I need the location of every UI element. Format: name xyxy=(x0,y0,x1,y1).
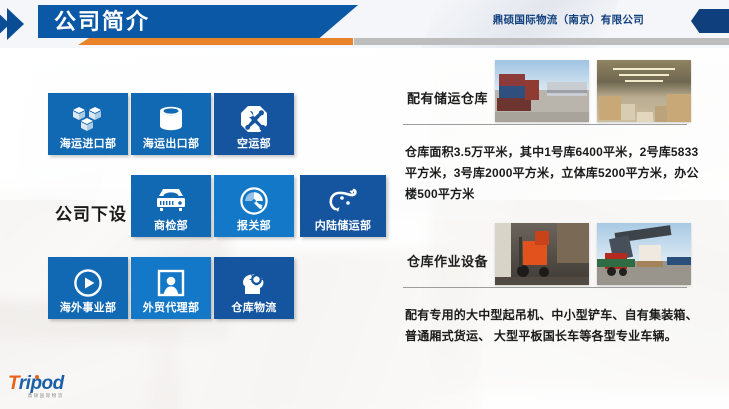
section-body: 配有专用的大中型起吊机、中小型铲车、自有集装箱、 普通厢式货运、 大型平板国长车… xyxy=(395,295,715,347)
department-grid: 公司下设 海运进口部 海运出口部 xyxy=(0,0,360,409)
dept-tile-label: 海外事业部 xyxy=(60,302,117,314)
tripod-logo: Tripod 鼎硕国际物流 xyxy=(8,374,64,399)
dept-tile-haiyun-chukou[interactable]: 海运出口部 xyxy=(131,93,211,155)
section-body: 仓库面积3.5万平米，其中1号库6400平米，2号库5833平方米，3号库200… xyxy=(395,132,715,205)
dept-tile-neilu-chuyun[interactable]: 内陆储运部 xyxy=(300,175,386,237)
dept-tile-label: 外贸代理部 xyxy=(143,302,200,314)
dept-tile-label: 仓库物流 xyxy=(231,302,276,314)
route-loop-icon xyxy=(300,175,386,220)
dept-tile-haiwai-shiye[interactable]: 海外事业部 xyxy=(48,257,128,319)
section-photos xyxy=(495,223,691,285)
logo-dot-icon xyxy=(35,375,39,379)
dept-tile-shangjian[interactable]: 商检部 xyxy=(131,175,211,237)
section-divider xyxy=(403,287,687,288)
section-photos xyxy=(495,60,691,122)
section-equipment: 仓库作业设备 xyxy=(395,223,715,347)
company-name: 鼎硕国际物流（南京）有限公司 xyxy=(493,12,644,27)
container-yard-photo xyxy=(495,60,589,122)
dept-tile-waimao-daili[interactable]: 外贸代理部 xyxy=(131,257,211,319)
person-frame-icon xyxy=(131,257,211,302)
head-idea-icon xyxy=(214,257,294,302)
cylinder-drum-icon xyxy=(131,93,211,138)
gauge-circle-icon xyxy=(214,175,294,220)
dept-tile-label: 空运部 xyxy=(237,138,271,150)
boxes-icon xyxy=(48,93,128,138)
section-warehouse: 配有储运仓库 xyxy=(395,60,715,205)
logo-first-letter: T xyxy=(8,373,19,394)
dept-tile-label: 海运进口部 xyxy=(60,138,117,150)
group-label: 公司下设 xyxy=(48,197,134,227)
section-divider xyxy=(403,124,687,125)
dept-tile-label: 内陆储运部 xyxy=(315,220,372,232)
dept-tile-kongyun[interactable]: 空运部 xyxy=(214,93,294,155)
logo-word-rest: ripod xyxy=(19,373,64,394)
dept-tile-label: 报关部 xyxy=(237,220,271,232)
section-title: 配有储运仓库 xyxy=(407,88,488,107)
dept-tile-baoguan[interactable]: 报关部 xyxy=(214,175,294,237)
dept-tile-cangku-wuliu[interactable]: 仓库物流 xyxy=(214,257,294,319)
octagon-tools-icon xyxy=(214,93,294,138)
slide-canvas: 公司简介 鼎硕国际物流（南京）有限公司 公司下设 海运进口部 xyxy=(0,0,729,409)
dept-tile-haiyun-jinkou[interactable]: 海运进口部 xyxy=(48,93,128,155)
info-sections: 配有储运仓库 xyxy=(395,60,715,347)
dept-tile-label: 商检部 xyxy=(154,220,188,232)
scanner-icon xyxy=(131,175,211,220)
dept-tile-label: 海运出口部 xyxy=(143,138,200,150)
section-title: 仓库作业设备 xyxy=(407,251,488,270)
accent-bar-gray xyxy=(354,38,729,45)
warehouse-interior-photo xyxy=(597,60,691,122)
reach-stacker-photo xyxy=(597,223,691,285)
play-circle-icon xyxy=(48,257,128,302)
forklift-loading-photo xyxy=(495,223,589,285)
